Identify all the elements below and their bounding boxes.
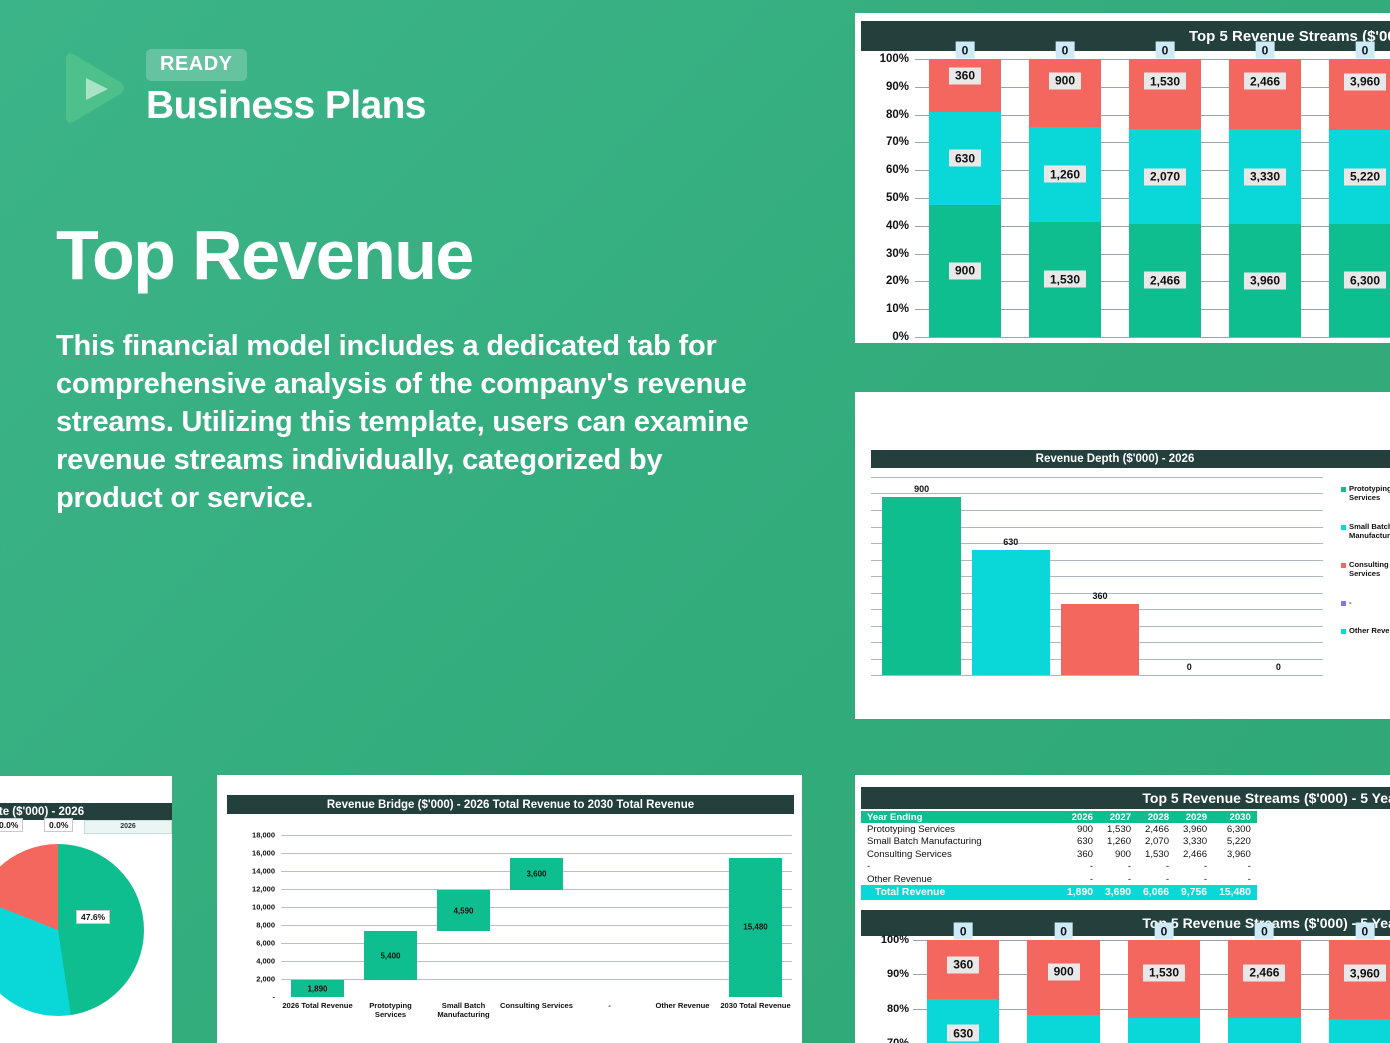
bar-value-label-other: 0 xyxy=(1356,42,1375,59)
table-cell: 360 xyxy=(1061,848,1099,860)
bar-segment-prototyping-services: 6,300 xyxy=(1329,224,1390,337)
table-cell: - xyxy=(1175,861,1213,873)
top-stacked-chart-panel: Top 5 Revenue Streams ($'000) 100%90%80%… xyxy=(855,13,1390,343)
table-col-header: 2027 xyxy=(1099,811,1137,823)
bar-prototyping-services[interactable]: 900 xyxy=(877,477,966,675)
y-tick: 6,000 xyxy=(256,939,275,948)
pie-slices xyxy=(0,844,144,1016)
bar-column[interactable]: 3606309000 xyxy=(915,59,1015,337)
waterfall-bar[interactable]: 4,590 xyxy=(427,835,500,997)
y-tick: 12,000 xyxy=(252,885,275,894)
y-axis-labels-bottom: 100%90%80%70% xyxy=(861,940,909,1043)
table-total-cell: 3,690 xyxy=(1099,885,1137,900)
brand-name: Business Plans xyxy=(146,86,426,127)
bar-value-label: 2,466 xyxy=(1244,73,1286,90)
waterfall-block: 5,400 xyxy=(364,931,417,980)
table-row-label: Consulting Services xyxy=(861,848,1061,860)
table-cell: 2,070 xyxy=(1137,836,1175,848)
bar-value-label: 360 xyxy=(1055,591,1144,601)
hero-section: READY Business Plans Top Revenue This fi… xyxy=(56,48,816,518)
bar-group-depth: 90063036000 xyxy=(877,477,1323,675)
table-row-label: Other Revenue xyxy=(861,873,1061,885)
bar-segment-prototyping-services: 2,466 xyxy=(1129,224,1201,337)
bar-segment-small-batch-manufacturing: 2,070 xyxy=(1129,129,1201,224)
run-rate-pie-panel: Run-Rate ($'000) - 2026 2026 47.6% 33.3%… xyxy=(0,776,172,1043)
y-tick: 100% xyxy=(880,53,909,65)
legend-label: Other Revenue xyxy=(1349,626,1390,635)
bar-column[interactable]: 2,4660 xyxy=(1214,940,1314,1043)
bar-column[interactable]: 1,5302,0702,4660 xyxy=(1115,59,1215,337)
x-tick: 2030 Total Revenue xyxy=(719,1001,792,1019)
bar--[interactable]: 0 xyxy=(1145,477,1234,675)
waterfall-value-label: 3,600 xyxy=(510,869,563,878)
top-stacked-chart: 100%90%80%70%60%50%40%30%20%10%0% 360630… xyxy=(855,59,1390,337)
play-triangle-icon xyxy=(56,48,128,128)
table-cell: 3,330 xyxy=(1175,836,1213,848)
page-title: Top Revenue xyxy=(56,220,816,290)
table-col-header: 2029 xyxy=(1175,811,1213,823)
bar-column[interactable]: 3,9605,2206,3000 xyxy=(1315,59,1390,337)
table-row: Consulting Services3609001,5302,4663,960 xyxy=(861,848,1257,860)
y-tick: 4,000 xyxy=(256,957,275,966)
table-title: Top 5 Revenue Streams ($'000) - 5 Years xyxy=(861,787,1390,809)
table-cell: 1,530 xyxy=(1137,848,1175,860)
waterfall-value-label: 4,590 xyxy=(437,906,490,915)
bar-value-label: 5,220 xyxy=(1344,168,1386,185)
legend-item: Other Revenue xyxy=(1341,626,1390,635)
bar-value-label: 900 xyxy=(1049,72,1081,89)
bar-value-label-other: 0 xyxy=(956,42,975,59)
y-tick: 20% xyxy=(886,275,909,287)
table-col-header: 2026 xyxy=(1061,811,1099,823)
table-col-header: 2030 xyxy=(1213,811,1257,823)
y-tick: - xyxy=(273,993,276,1002)
bar-value-label-other: 0 xyxy=(1054,923,1073,940)
waterfall-bar[interactable]: 1,890 xyxy=(281,835,354,997)
bar-column[interactable]: 3,9600 xyxy=(1315,940,1390,1043)
bar-group-bridge: 1,8905,4004,5903,60015,480 xyxy=(281,835,792,997)
bar-segment-consulting-services: 3,960 xyxy=(1329,940,1390,1019)
bar-fill xyxy=(1061,604,1140,675)
bottom-stacked-chart: 100%90%80%70% 360630090001,53002,46603,9… xyxy=(855,940,1390,1043)
y-tick: 100% xyxy=(881,934,909,946)
table-cell: 630 xyxy=(1061,836,1099,848)
legend-item: - xyxy=(1341,598,1390,607)
y-tick: 16,000 xyxy=(252,848,275,857)
ready-badge: READY xyxy=(146,49,247,81)
bar-segment-consulting-services: 360 xyxy=(927,940,999,999)
title-bar-extension xyxy=(1359,450,1390,468)
y-tick: 10% xyxy=(886,303,909,315)
legend-label: - xyxy=(1349,598,1352,607)
y-tick: 70% xyxy=(886,136,909,148)
y-tick: 2,000 xyxy=(256,974,275,983)
bar-segment-consulting-services: 2,466 xyxy=(1229,59,1301,129)
pie-label-prototyping: 47.6% xyxy=(76,910,110,924)
bar-value-label: 1,530 xyxy=(1143,964,1185,981)
table-header-row: Year Ending20262027202820292030 xyxy=(861,811,1257,823)
table-total-cell: 6,066 xyxy=(1137,885,1175,900)
table-cell: - xyxy=(1213,873,1257,885)
legend-label: Small Batch Manufacturing xyxy=(1349,522,1390,541)
y-tick: 80% xyxy=(886,109,909,121)
bar-value-label: 2,466 xyxy=(1144,272,1186,289)
revenue-table-panel: Top 5 Revenue Streams ($'000) - 5 Years … xyxy=(855,775,1390,909)
table-cell: 2,466 xyxy=(1137,823,1175,835)
table-cell: - xyxy=(1099,873,1137,885)
page-description: This financial model includes a dedicate… xyxy=(56,328,756,518)
bar-value-label: 900 xyxy=(1048,963,1080,980)
y-tick: 18,000 xyxy=(252,831,275,840)
table-cell: 1,530 xyxy=(1099,823,1137,835)
waterfall-bar[interactable] xyxy=(573,835,646,997)
bar-value-label: 2,466 xyxy=(1243,964,1285,981)
table-cell: - xyxy=(1137,873,1175,885)
table-cell: - xyxy=(1099,861,1137,873)
legend-swatch xyxy=(1341,601,1346,606)
table-row-label: Prototyping Services xyxy=(861,823,1061,835)
bar-value-label: 1,530 xyxy=(1144,73,1186,90)
legend-label: Prototyping Services xyxy=(1349,484,1390,503)
bar-segment-small-batch-manufacturing: 630 xyxy=(929,112,1001,205)
y-tick: 40% xyxy=(886,220,909,232)
waterfall-block: 3,600 xyxy=(510,858,563,890)
waterfall-bar[interactable]: 3,600 xyxy=(500,835,573,997)
legend-item: Small Batch Manufacturing xyxy=(1341,522,1390,541)
waterfall-block: 15,480 xyxy=(729,858,782,997)
bar-value-label-other: 0 xyxy=(1355,923,1374,940)
legend-item: Consulting Services xyxy=(1341,560,1390,579)
x-tick: - xyxy=(573,1001,646,1019)
pie-label-dash: 0.0% xyxy=(0,818,23,832)
waterfall-block: 1,890 xyxy=(291,980,344,997)
waterfall-value-label: 5,400 xyxy=(364,951,417,960)
bar-value-label: 0 xyxy=(1234,662,1323,672)
bar-value-label: 3,960 xyxy=(1344,73,1386,90)
bar-value-label: 3,960 xyxy=(1344,965,1386,982)
bottom-stacked-chart-panel: Top 5 Revenue Streams ($'000) - 5 Years … xyxy=(855,906,1390,1043)
bar-segment-consulting-services: 3,960 xyxy=(1329,59,1390,130)
legend-swatch xyxy=(1341,629,1346,634)
table-cell: - xyxy=(1061,861,1099,873)
table-col-header: Year Ending xyxy=(861,811,1061,823)
bar-value-label: 900 xyxy=(877,484,966,494)
brand-logo: READY Business Plans xyxy=(56,48,816,128)
y-tick: 90% xyxy=(886,81,909,93)
waterfall-value-label: 1,890 xyxy=(291,984,344,993)
waterfall-block: 4,590 xyxy=(437,890,490,931)
bar-segment-small-batch-manufacturing xyxy=(1228,1018,1300,1043)
waterfall-bar[interactable] xyxy=(646,835,719,997)
table-total-row: Total Revenue1,8903,6906,0669,75615,480 xyxy=(861,885,1257,900)
bar-other-revenue[interactable]: 0 xyxy=(1234,477,1323,675)
table-col-header: 2028 xyxy=(1137,811,1175,823)
legend-item: Prototyping Services xyxy=(1341,484,1390,503)
table-total-cell: 1,890 xyxy=(1061,885,1099,900)
y-tick: 60% xyxy=(886,164,909,176)
pie-chart: 47.6% 33.3% 19.0% 0.0% 0.0% xyxy=(0,844,144,1016)
table-row: ------ xyxy=(861,861,1257,873)
bar-value-label: 630 xyxy=(947,1025,979,1042)
y-tick: 0% xyxy=(892,331,909,343)
bar-segment-small-batch-manufacturing xyxy=(1128,1018,1200,1043)
chart-title-bridge: Revenue Bridge ($'000) - 2026 Total Reve… xyxy=(227,795,794,814)
bar-consulting-services[interactable]: 360 xyxy=(1055,477,1144,675)
revenue-depth-panel: Revenue Depth ($'000) - 2026 90063036000… xyxy=(855,392,1390,719)
table-cell: 900 xyxy=(1061,823,1099,835)
table-cell: 1,260 xyxy=(1099,836,1137,848)
bar-segment-consulting-services: 1,530 xyxy=(1129,59,1201,129)
revenue-table: Year Ending20262027202820292030 Prototyp… xyxy=(861,811,1257,900)
chart-title-pie: Run-Rate ($'000) - 2026 xyxy=(0,803,172,820)
bar-segment-small-batch-manufacturing xyxy=(1329,1019,1390,1043)
bar-value-label: 630 xyxy=(949,150,981,167)
table-cell: 5,220 xyxy=(1213,836,1257,848)
bar-segment-consulting-services: 2,466 xyxy=(1228,940,1300,1018)
bar-value-label: 3,330 xyxy=(1244,168,1286,185)
y-tick: 8,000 xyxy=(256,921,275,930)
bar-value-label: 2,070 xyxy=(1144,168,1186,185)
y-tick: 30% xyxy=(886,248,909,260)
x-axis-labels-bridge: 2026 Total RevenuePrototyping ServicesSm… xyxy=(281,1001,792,1019)
table-cell: - xyxy=(1137,861,1175,873)
bar-segment-prototyping-services: 900 xyxy=(929,205,1001,337)
bar-value-label: 360 xyxy=(949,67,981,84)
y-tick: 50% xyxy=(886,192,909,204)
plot-area-bottom: 360630090001,53002,46603,9600 xyxy=(913,940,1390,1043)
pie-label-other: 0.0% xyxy=(44,818,73,832)
bar-column[interactable]: 2,4663,3303,9600 xyxy=(1215,59,1315,337)
bar-column[interactable]: 9000 xyxy=(1013,940,1113,1043)
plot-area-bridge: 1,8905,4004,5903,60015,480 xyxy=(281,835,792,997)
bar-column[interactable]: 9001,2601,5300 xyxy=(1015,59,1115,337)
bar-segment-small-batch-manufacturing: 5,220 xyxy=(1329,130,1390,224)
table-cell: 900 xyxy=(1099,848,1137,860)
table-cell: - xyxy=(1213,861,1257,873)
x-tick: Small Batch Manufacturing xyxy=(427,1001,500,1019)
table-row: Other Revenue----- xyxy=(861,873,1257,885)
y-tick: 70% xyxy=(887,1037,909,1043)
legend-swatch xyxy=(1341,525,1346,530)
revenue-depth-chart: 90063036000 xyxy=(871,477,1323,675)
y-tick: 90% xyxy=(887,968,909,980)
bar-group-bottom: 360630090001,53002,46603,9600 xyxy=(913,940,1390,1043)
bar-value-label: 1,260 xyxy=(1044,166,1086,183)
y-tick: 10,000 xyxy=(252,902,275,911)
bar-column[interactable]: 1,5300 xyxy=(1114,940,1214,1043)
table-cell: - xyxy=(1175,873,1213,885)
bar-segment-small-batch-manufacturing xyxy=(1027,1015,1099,1043)
bar-value-label-other: 0 xyxy=(1255,923,1274,940)
chart-title-depth: Revenue Depth ($'000) - 2026 xyxy=(871,450,1359,468)
gridline xyxy=(871,675,1323,676)
table-row: Prototyping Services9001,5302,4663,9606,… xyxy=(861,823,1257,835)
plot-area-top: 36063090009001,2601,53001,5302,0702,4660… xyxy=(915,59,1390,337)
x-tick: 2026 Total Revenue xyxy=(281,1001,354,1019)
bar-value-label: 3,960 xyxy=(1244,272,1286,289)
bar-segment-small-batch-manufacturing: 630 xyxy=(927,999,999,1043)
bar-group-top: 36063090009001,2601,53001,5302,0702,4660… xyxy=(915,59,1390,337)
pie-year-tab[interactable]: 2026 xyxy=(84,820,172,834)
y-tick: 14,000 xyxy=(252,866,275,875)
revenue-bridge-panel: Revenue Bridge ($'000) - 2026 Total Reve… xyxy=(217,775,802,1043)
table-body: Prototyping Services9001,5302,4663,9606,… xyxy=(861,823,1257,900)
table-total-cell: 9,756 xyxy=(1175,885,1213,900)
legend-depth: Prototyping ServicesSmall Batch Manufact… xyxy=(1341,484,1390,655)
x-tick: Other Revenue xyxy=(646,1001,719,1019)
legend-label: Consulting Services xyxy=(1349,560,1390,579)
y-axis-labels-bridge: -2,0004,0006,0008,00010,00012,00014,0001… xyxy=(237,835,277,997)
bar-value-label: 360 xyxy=(947,956,979,973)
bar-value-label-other: 0 xyxy=(1155,923,1174,940)
bar-segment-consulting-services: 900 xyxy=(1027,940,1099,1015)
bar-value-label-other: 0 xyxy=(1156,42,1175,59)
table-total-label: Total Revenue xyxy=(861,885,1061,900)
bar-value-label-other: 0 xyxy=(1056,42,1075,59)
bar-value-label: 6,300 xyxy=(1344,272,1386,289)
table-cell: - xyxy=(1061,873,1099,885)
bar-value-label: 1,530 xyxy=(1044,271,1086,288)
bar-segment-consulting-services: 900 xyxy=(1029,59,1101,127)
table-row: Small Batch Manufacturing6301,2602,0703,… xyxy=(861,836,1257,848)
bar-value-label: 0 xyxy=(1145,662,1234,672)
waterfall-chart: -2,0004,0006,0008,00010,00012,00014,0001… xyxy=(237,835,792,997)
table-row-label: - xyxy=(861,861,1061,873)
table-row-label: Small Batch Manufacturing xyxy=(861,836,1061,848)
bar-value-label-other: 0 xyxy=(954,923,973,940)
bar-value-label: 630 xyxy=(966,537,1055,547)
table-cell: 6,300 xyxy=(1213,823,1257,835)
bar-segment-prototyping-services: 3,960 xyxy=(1229,224,1301,337)
legend-swatch xyxy=(1341,487,1346,492)
chart-title-bottom-stacked: Top 5 Revenue Streams ($'000) - 5 Years xyxy=(861,910,1390,936)
bar-value-label-other: 0 xyxy=(1256,42,1275,59)
waterfall-value-label: 15,480 xyxy=(729,923,782,932)
bar-fill xyxy=(882,497,961,675)
table-cell: 2,466 xyxy=(1175,848,1213,860)
bar-small-batch-manufacturing[interactable]: 630 xyxy=(966,477,1055,675)
bar-segment-consulting-services: 1,530 xyxy=(1128,940,1200,1018)
bar-segment-consulting-services: 360 xyxy=(929,59,1001,112)
y-axis-labels-top: 100%90%80%70%60%50%40%30%20%10%0% xyxy=(861,59,909,337)
table-total-cell: 15,480 xyxy=(1213,885,1257,900)
bar-fill xyxy=(972,550,1051,675)
bar-column[interactable]: 3606300 xyxy=(913,940,1013,1043)
bar-segment-small-batch-manufacturing: 1,260 xyxy=(1029,127,1101,222)
gridline xyxy=(915,337,1390,338)
bar-segment-small-batch-manufacturing: 3,330 xyxy=(1229,129,1301,224)
x-tick: Consulting Services xyxy=(500,1001,573,1019)
waterfall-bar[interactable]: 5,400 xyxy=(354,835,427,997)
chart-title-top-stacked: Top 5 Revenue Streams ($'000) xyxy=(861,21,1390,51)
bar-value-label: 900 xyxy=(949,262,981,279)
table-cell: 3,960 xyxy=(1175,823,1213,835)
table-cell: 3,960 xyxy=(1213,848,1257,860)
x-tick: Prototyping Services xyxy=(354,1001,427,1019)
legend-swatch xyxy=(1341,563,1346,568)
waterfall-bar[interactable]: 15,480 xyxy=(719,835,792,997)
y-tick: 80% xyxy=(887,1003,909,1015)
bar-segment-prototyping-services: 1,530 xyxy=(1029,222,1101,337)
